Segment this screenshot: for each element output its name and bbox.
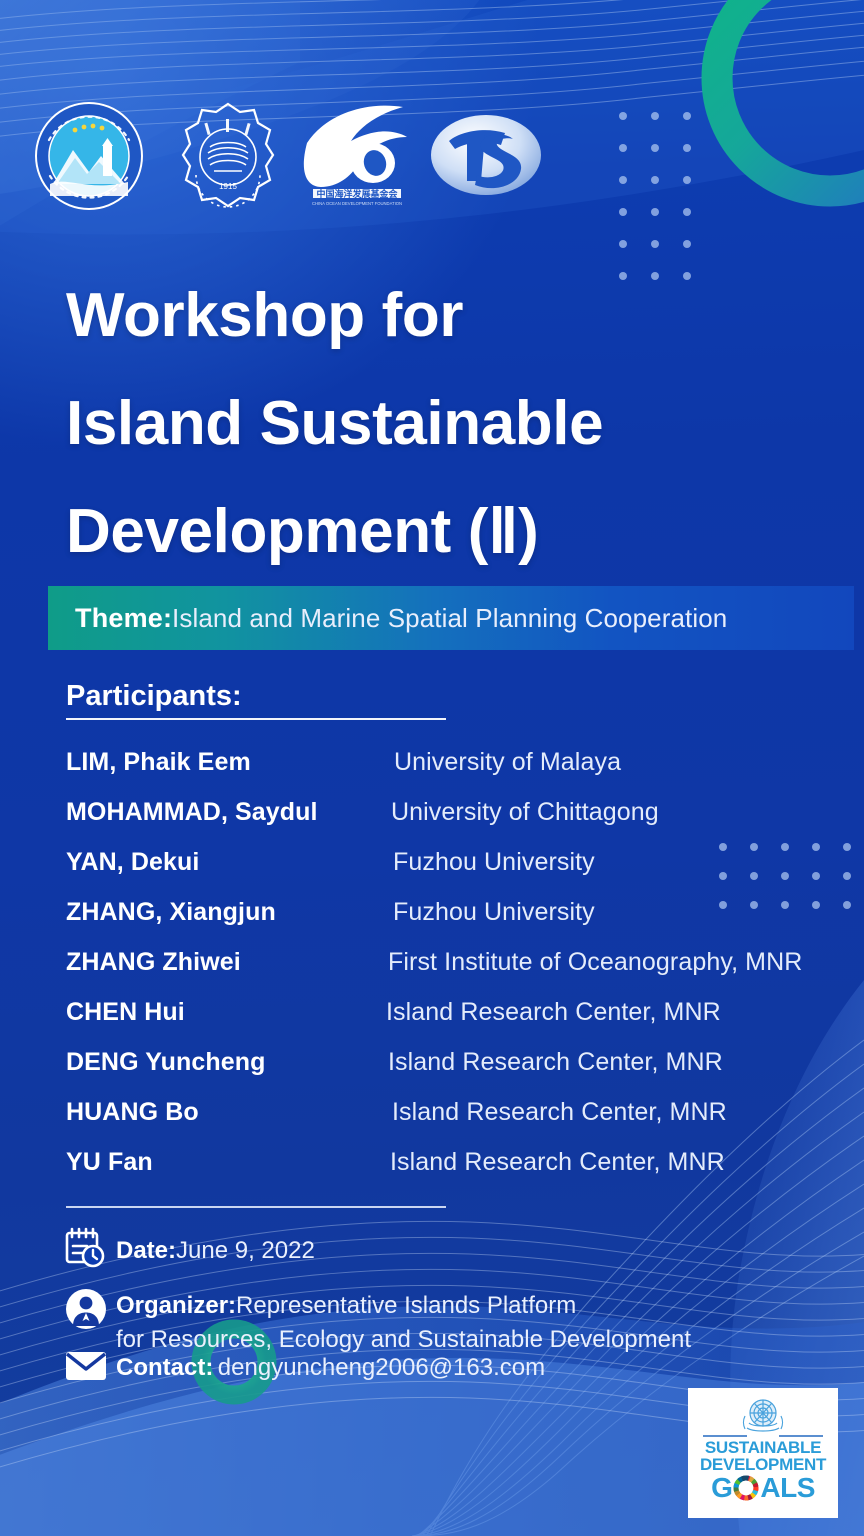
- participant-name: ZHANG Zhiwei: [66, 948, 376, 977]
- participants-heading: Participants:: [66, 680, 242, 713]
- date-colon: :: [168, 1237, 176, 1264]
- organizer-colon: :: [228, 1292, 236, 1319]
- organizer-text: Organizer:Representative Islands Platfor…: [111, 1288, 691, 1355]
- participant-row: YU Fan Island Research Center, MNR: [66, 1148, 826, 1198]
- date-text: Date:June 9, 2022: [109, 1226, 315, 1265]
- china-ocean-development-foundation-logo: 中国海洋发展基金会 CHINA OCEAN DEVELOPMENT FOUNDA…: [299, 101, 415, 209]
- contact-colon: :: [205, 1354, 213, 1381]
- contact-text: Contact: dengyuncheng2006@163.com: [111, 1349, 545, 1382]
- participant-row: DENG Yuncheng Island Research Center, MN…: [66, 1048, 826, 1098]
- ts-logo: [427, 111, 545, 199]
- participant-affiliation: Fuzhou University: [376, 848, 595, 877]
- info-row-date: Date:June 9, 2022: [63, 1226, 315, 1270]
- participant-name: CHEN Hui: [66, 998, 376, 1027]
- participant-row: YAN, Dekui Fuzhou University: [66, 848, 826, 898]
- participants-divider-bottom: [66, 1206, 446, 1208]
- participant-affiliation: Fuzhou University: [376, 898, 595, 927]
- person-icon: [65, 1288, 111, 1330]
- poster-canvas: 1915 中国海洋发展基金会 CHINA OCEAN DEVELOPMENT: [0, 0, 864, 1536]
- sdg-line-2: DEVELOPMENT: [700, 1456, 826, 1473]
- participant-row: CHEN Hui Island Research Center, MNR: [66, 998, 826, 1048]
- contact-label: Contact: [116, 1354, 205, 1381]
- participant-name: YAN, Dekui: [66, 848, 376, 877]
- participant-affiliation: Island Research Center, MNR: [376, 1098, 727, 1127]
- sdg-line-1: SUSTAINABLE: [705, 1439, 821, 1456]
- sdg-line-3: G: [711, 1474, 815, 1502]
- un-emblem-icon: [737, 1394, 789, 1434]
- participants-divider-top: [66, 718, 446, 720]
- participant-row: ZHANG Zhiwei First Institute of Oceanogr…: [66, 948, 826, 998]
- organizer-label: Organizer: [116, 1292, 228, 1319]
- calendar-clock-icon: [63, 1226, 109, 1270]
- theme-banner: Theme : Island and Marine Spatial Planni…: [48, 586, 854, 650]
- sdg-color-wheel-icon: [733, 1475, 759, 1501]
- participants-list: LIM, Phaik Eem University of Malaya MOHA…: [66, 748, 826, 1198]
- theme-label: Theme: [75, 603, 163, 634]
- participant-affiliation: University of Chittagong: [376, 798, 659, 827]
- participant-affiliation: University of Malaya: [376, 748, 621, 777]
- poster-title: Workshop for Island Sustainable Developm…: [66, 262, 786, 586]
- participant-row: HUANG Bo Island Research Center, MNR: [66, 1098, 826, 1148]
- participant-affiliation: First Institute of Oceanography, MNR: [376, 948, 802, 977]
- sdg-als: ALS: [760, 1474, 815, 1502]
- theme-value: Island and Marine Spatial Planning Coope…: [172, 603, 727, 634]
- info-row-contact: Contact: dengyuncheng2006@163.com: [65, 1349, 545, 1383]
- participant-row: MOHAMMAD, Saydul University of Chittagon…: [66, 798, 826, 848]
- info-row-organizer: Organizer:Representative Islands Platfor…: [65, 1288, 691, 1355]
- participant-name: LIM, Phaik Eem: [66, 748, 376, 777]
- hohai-university-logo: 1915: [174, 101, 282, 209]
- svg-text:中国海洋发展基金会: 中国海洋发展基金会: [316, 188, 398, 199]
- sdg-logo: SUSTAINABLE DEVELOPMENT G: [688, 1388, 838, 1518]
- participant-row: ZHANG, Xiangjun Fuzhou University: [66, 898, 826, 948]
- svg-text:1915: 1915: [219, 182, 237, 191]
- participant-affiliation: Island Research Center, MNR: [376, 1148, 725, 1177]
- title-line-1: Workshop for: [66, 262, 786, 370]
- logo-row: 1915 中国海洋发展基金会 CHINA OCEAN DEVELOPMENT: [0, 95, 864, 210]
- organizer-value: Representative Islands Platform: [236, 1292, 576, 1319]
- participant-affiliation: Island Research Center, MNR: [376, 1048, 723, 1077]
- sdg-g: G: [711, 1474, 732, 1502]
- participant-affiliation: Island Research Center, MNR: [376, 998, 721, 1027]
- title-line-3: Development (Ⅱ): [66, 478, 786, 586]
- contact-value: dengyuncheng2006@163.com: [218, 1354, 545, 1381]
- participant-row: LIM, Phaik Eem University of Malaya: [66, 748, 826, 798]
- envelope-icon: [65, 1349, 111, 1383]
- participant-name: HUANG Bo: [66, 1098, 376, 1127]
- date-label: Date: [116, 1237, 168, 1264]
- island-research-center-logo: [33, 100, 145, 212]
- participant-name: MOHAMMAD, Saydul: [66, 798, 376, 827]
- title-line-2: Island Sustainable: [66, 370, 786, 478]
- svg-text:CHINA OCEAN DEVELOPMENT FOUNDA: CHINA OCEAN DEVELOPMENT FOUNDATION: [312, 201, 402, 206]
- participant-name: DENG Yuncheng: [66, 1048, 376, 1077]
- theme-colon: :: [163, 603, 172, 634]
- date-value: June 9, 2022: [176, 1237, 315, 1264]
- sdg-rule: [703, 1435, 823, 1437]
- participant-name: ZHANG, Xiangjun: [66, 898, 376, 927]
- participant-name: YU Fan: [66, 1148, 376, 1177]
